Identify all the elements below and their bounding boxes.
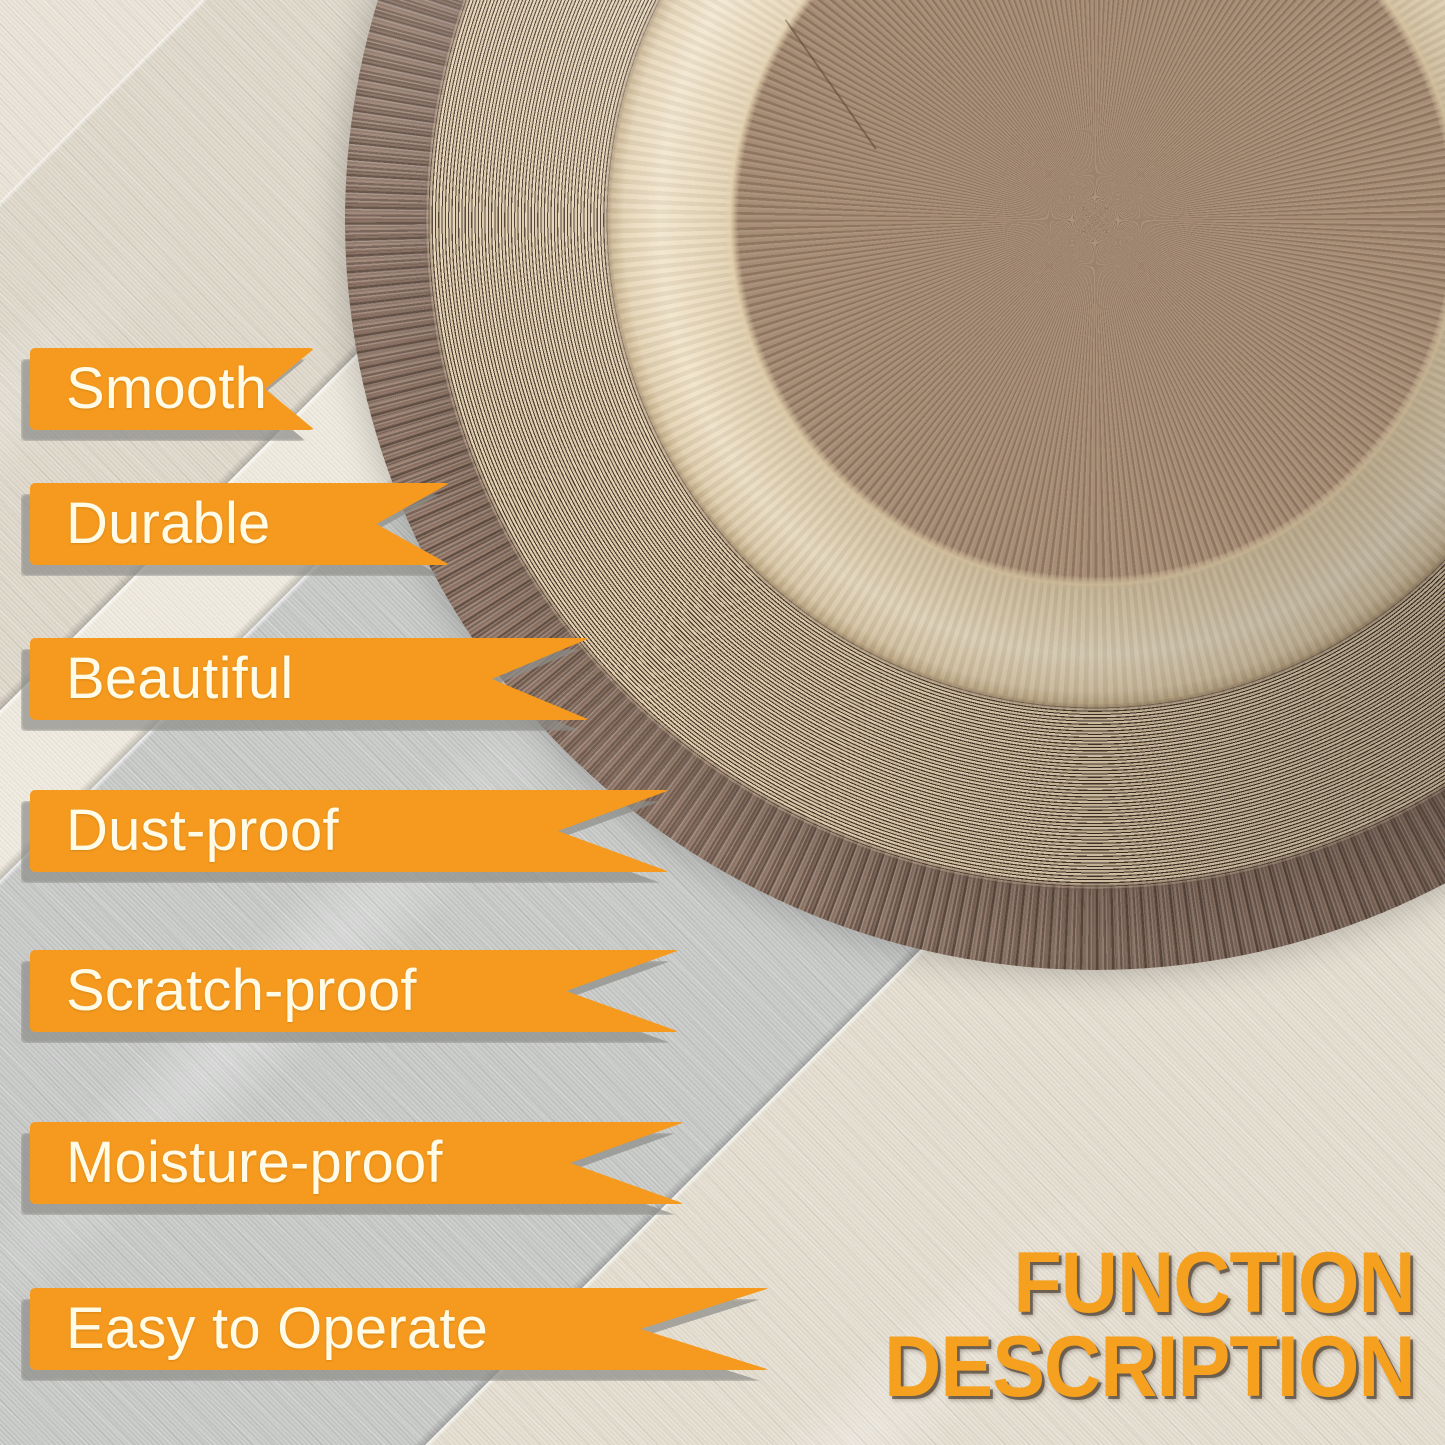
- feature-banner[interactable]: Scratch-proof: [30, 950, 680, 1032]
- feature-label-beautiful: Beautiful: [30, 650, 294, 708]
- feature-banner[interactable]: Easy to Operate: [30, 1288, 770, 1370]
- section-heading: FUNCTION DESCRIPTION: [838, 1242, 1415, 1409]
- feature-label-easy-to-operate: Easy to Operate: [30, 1300, 488, 1358]
- feature-banner[interactable]: Dust-proof: [30, 790, 670, 872]
- feature-banner[interactable]: Beautiful: [30, 638, 590, 720]
- feature-label-dust-proof: Dust-proof: [30, 802, 339, 860]
- feature-label-moisture-proof: Moisture-proof: [30, 1134, 443, 1192]
- feature-banner[interactable]: Smooth: [30, 348, 315, 430]
- feature-label-scratch-proof: Scratch-proof: [30, 962, 417, 1020]
- feature-label-smooth: Smooth: [30, 360, 267, 418]
- feature-banner[interactable]: Moisture-proof: [30, 1122, 685, 1204]
- feature-label-durable: Durable: [30, 495, 271, 553]
- feature-list: Smooth Durable Beautiful Dust-proof Scra…: [0, 0, 1445, 1445]
- heading-line-function: FUNCTION: [884, 1242, 1415, 1325]
- feature-banner[interactable]: Durable: [30, 483, 450, 565]
- infographic-canvas: Smooth Durable Beautiful Dust-proof Scra…: [0, 0, 1445, 1445]
- heading-line-description: DESCRIPTION: [884, 1326, 1415, 1409]
